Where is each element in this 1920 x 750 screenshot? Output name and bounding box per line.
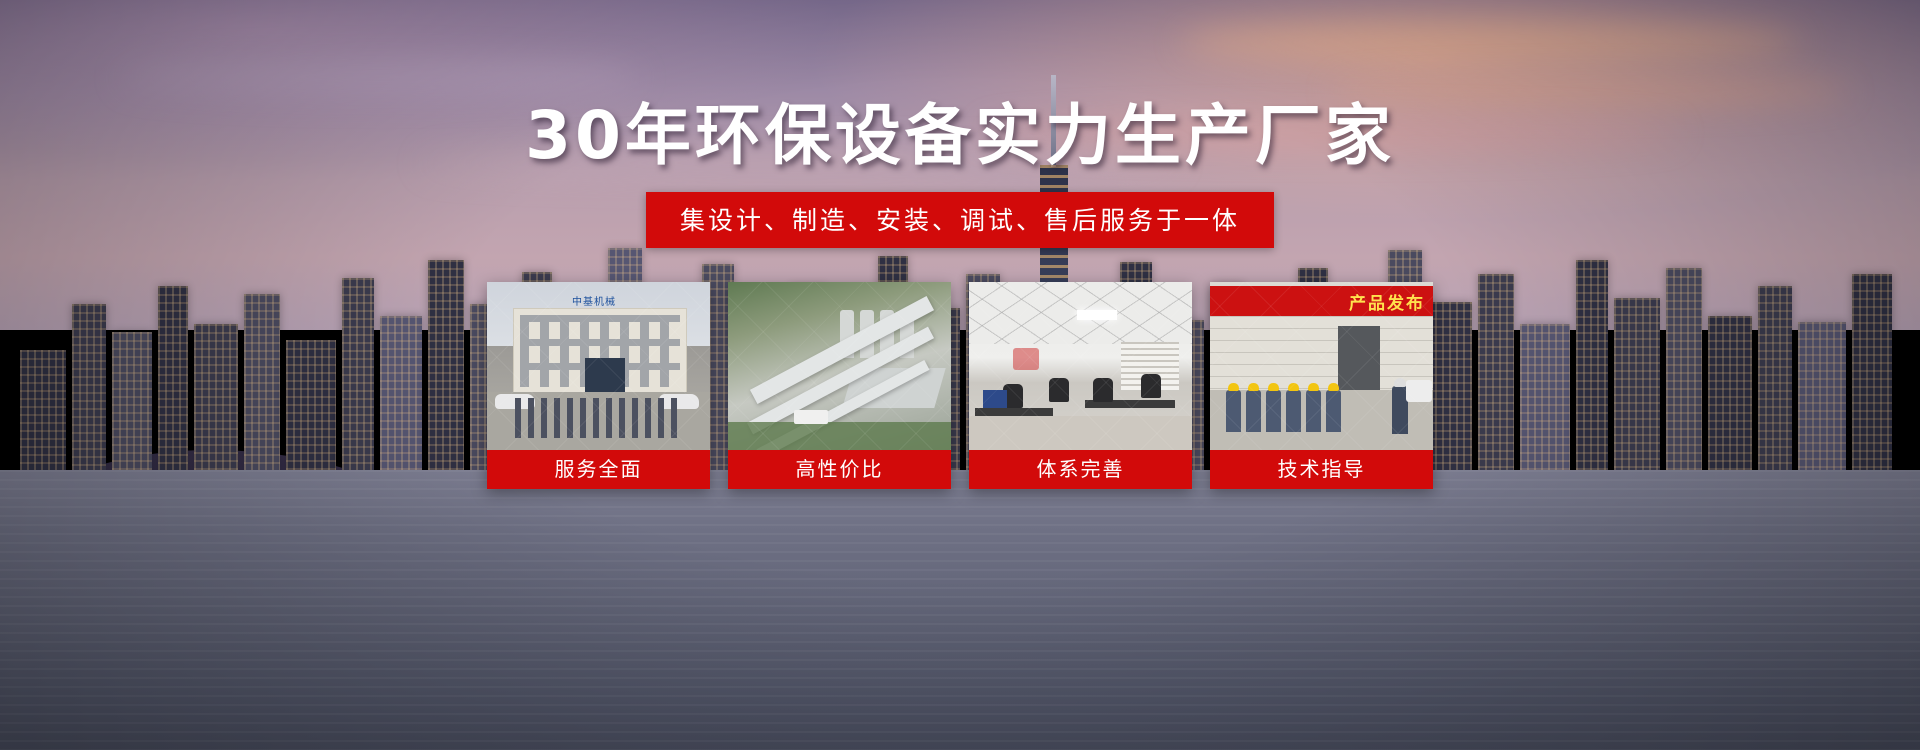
feature-card[interactable]: 高性价比 [728, 282, 951, 489]
ceiling-light [1077, 310, 1117, 320]
workshop-door [1338, 326, 1380, 390]
feature-card[interactable]: 产品发布 技术指导 [1210, 282, 1433, 489]
feature-card-label: 体系完善 [969, 450, 1192, 489]
building-entrance [585, 358, 625, 394]
worker [1246, 390, 1261, 432]
worker [1266, 390, 1281, 432]
office-floor [969, 416, 1192, 450]
company-building-photo: 中基机械 [487, 282, 710, 450]
page-title: 30年环保设备实力生产厂家 [0, 100, 1920, 173]
worker [1306, 390, 1321, 432]
feature-card[interactable]: 体系完善 [969, 282, 1192, 489]
computer-monitor [983, 390, 1007, 408]
aerial-plant-photo [728, 282, 951, 450]
greenery [728, 422, 951, 450]
worker [1326, 390, 1341, 432]
workshop-banner-text: 产品发布 [1349, 289, 1425, 314]
feature-card[interactable]: 中基机械 服务全面 [487, 282, 710, 489]
subtitle-badge: 集设计、制造、安装、调试、售后服务于一体 [646, 192, 1274, 248]
workshop-banner: 产品发布 [1210, 286, 1433, 316]
feature-card-label: 服务全面 [487, 450, 710, 489]
office-worker [1093, 378, 1113, 402]
worker [1286, 390, 1301, 432]
worker [1226, 390, 1241, 432]
banner-content: 30年环保设备实力生产厂家 集设计、制造、安装、调试、售后服务于一体 中基机械 … [0, 0, 1920, 750]
feature-card-label: 高性价比 [728, 450, 951, 489]
office-interior-photo [969, 282, 1192, 450]
office-desk [975, 408, 1053, 416]
van [1406, 380, 1432, 402]
feature-card-label: 技术指导 [1210, 450, 1433, 489]
truck [794, 410, 828, 424]
staff-row [515, 398, 683, 438]
workshop-team-photo: 产品发布 [1210, 282, 1433, 450]
wall-decal [1013, 348, 1039, 370]
hero-banner: 30年环保设备实力生产厂家 集设计、制造、安装、调试、售后服务于一体 中基机械 … [0, 0, 1920, 750]
office-worker [1049, 378, 1069, 402]
wall-slogan [1220, 320, 1328, 346]
company-sign-text: 中基机械 [539, 296, 649, 309]
office-worker [1141, 374, 1161, 398]
feature-card-list: 中基机械 服务全面 [487, 282, 1433, 489]
